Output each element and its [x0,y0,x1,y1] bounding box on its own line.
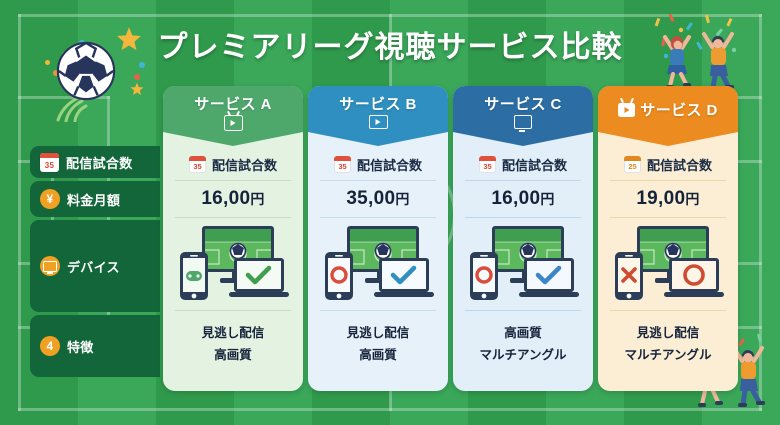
monitor-icon [514,115,532,129]
price-value: 35,00 [346,188,395,210]
card-header: サービス A [163,86,303,132]
feature-item: 見逃し配信 [347,322,410,341]
devices-illustration [319,224,437,304]
calendar-icon: 35 [479,156,496,173]
price-value: 19,00 [636,188,685,210]
row-label-price: ¥ 料金月額 [30,181,160,217]
service-name: サービス D [640,99,717,120]
matches-label: 配信試合数 [502,155,567,174]
feature-item: 高画質 [359,344,397,363]
row-label-features: 4 特徴 [30,315,160,377]
devices-row [163,218,303,310]
devices-row [453,218,593,310]
calendar-icon: 35 [334,156,351,173]
matches-row: 35 配信試合数 [163,148,303,180]
card-header: サービス D [598,86,738,132]
service-card-c[interactable]: サービス C 35 配信試合数 16,00円 [453,86,593,391]
play-icon [369,115,388,129]
row-label-text: 料金月額 [67,190,120,209]
matches-label: 配信試合数 [212,155,277,174]
card-body: 35 配信試合数 16,00円 [163,132,303,391]
matches-row: 35 配信試合数 [453,148,593,180]
row-label-devices: デバイス [30,220,160,312]
service-name: サービス A [194,93,271,114]
page-title: プレミアリーグ視聴サービス比較 [0,22,780,66]
matches-label: 配信試合数 [357,155,422,174]
features-row: 見逃し配信 高画質 [163,311,303,373]
number-icon: 4 [40,336,60,356]
price-row: 19,00円 [598,181,738,217]
feature-item: 見逃し配信 [637,322,700,341]
price-unit: 円 [395,189,409,209]
yen-icon: ¥ [40,189,60,209]
calendar-icon: 35 [189,156,206,173]
card-header: サービス B [308,86,448,132]
feature-item: 見逃し配信 [202,322,265,341]
service-name: サービス C [484,93,561,114]
feature-item: マルチアングル [624,344,711,363]
devices-row [598,218,738,310]
row-label-text: デバイス [67,257,120,276]
price-row: 35,00円 [308,181,448,217]
row-label-text: 特徴 [67,337,94,356]
devices-illustration [464,224,582,304]
feature-item: マルチアングル [479,344,566,363]
price-value: 16,00 [491,188,540,210]
row-label-matches: 35 配信試合数 [30,146,160,178]
price-unit: 円 [540,189,554,209]
service-card-a[interactable]: サービス A 35 配信試合数 16,00円 [163,86,303,391]
service-card-b[interactable]: サービス B 35 配信試合数 35,00円 [308,86,448,391]
tv-icon [224,115,243,131]
price-value: 16,00 [201,188,250,210]
matches-row: 35 配信試合数 [308,148,448,180]
devices-row [308,218,448,310]
price-unit: 円 [250,189,264,209]
calendar-icon: 25 [624,156,641,173]
features-row: 高画質 マルチアングル [453,311,593,373]
features-row: 見逃し配信 マルチアングル [598,311,738,373]
devices-illustration [609,224,727,304]
infographic-canvas: プレミアリーグ視聴サービス比較 35 配信試合数 ¥ 料金月額 デバイス 4 特… [0,0,780,425]
row-label-text: 配信試合数 [66,153,133,172]
service-name: サービス B [339,93,416,114]
row-label-column: 35 配信試合数 ¥ 料金月額 デバイス 4 特徴 [30,146,160,380]
price-row: 16,00円 [163,181,303,217]
monitor-icon [40,256,60,276]
feature-item: 高画質 [504,322,542,341]
card-body: 25 配信試合数 19,00円 [598,132,738,391]
star-icon [130,82,144,96]
calendar-icon: 35 [40,153,59,172]
card-body: 35 配信試合数 35,00円 [308,132,448,391]
feature-item: 高画質 [214,344,252,363]
devices-illustration [174,224,292,304]
matches-label: 配信試合数 [647,155,712,174]
card-body: 35 配信試合数 16,00円 [453,132,593,391]
service-card-d[interactable]: サービス D 25 配信試合数 19,00円 [598,86,738,391]
tv-filled-icon [618,103,635,117]
card-header: サービス C [453,86,593,132]
price-row: 16,00円 [453,181,593,217]
matches-row: 25 配信試合数 [598,148,738,180]
features-row: 見逃し配信 高画質 [308,311,448,373]
price-unit: 円 [685,189,699,209]
